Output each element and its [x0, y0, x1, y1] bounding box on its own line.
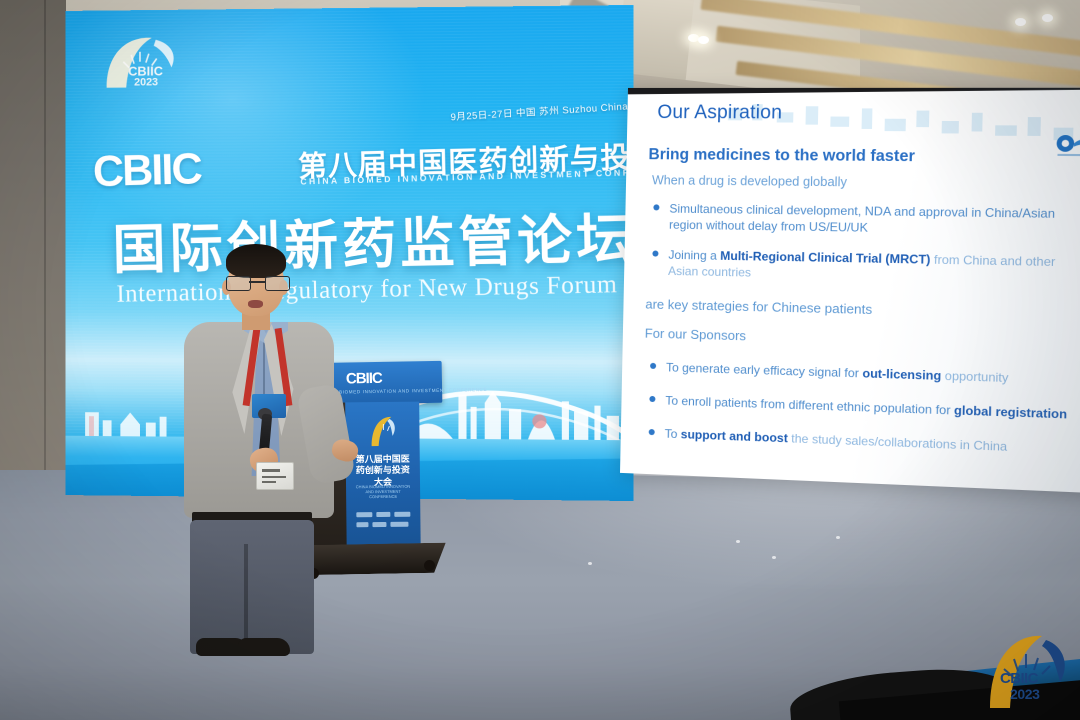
bullet-text-post: opportunity — [941, 368, 1009, 385]
ceiling-spotlight — [1042, 14, 1053, 22]
watermark-year: 2023 — [1010, 686, 1040, 702]
cbiic-wordmark: CBIIC — [92, 144, 201, 197]
floor-speck — [736, 540, 740, 543]
slide-mid-text: are key strategies for Chinese patients — [645, 296, 872, 317]
sponsor-logo-icon — [1051, 132, 1080, 160]
speaker-hair — [226, 244, 286, 278]
bullet-text-pre: To — [665, 427, 681, 442]
podium-caster — [424, 560, 435, 571]
speaker-mouth — [248, 300, 263, 308]
slide-subtitle: Bring medicines to the world faster — [648, 146, 915, 166]
speaker-shoe-right — [238, 638, 290, 656]
slide-bullet-2: Joining a Multi-Regional Clinical Trial … — [668, 247, 1080, 288]
ceiling-spotlight — [1015, 18, 1026, 26]
speaker-person — [176, 244, 376, 664]
cbiic-2023-logo-icon: CBIIC 2023 — [99, 32, 181, 94]
slide-bullet-1: Simultaneous clinical development, NDA a… — [669, 201, 1080, 240]
bullet-dot-icon — [650, 363, 656, 369]
bullet-text-pre: Joining a — [668, 248, 720, 263]
bullet-text: Simultaneous clinical development, NDA a… — [669, 202, 1055, 235]
bullet-text-bold: support and boost — [681, 427, 788, 445]
bullet-text-bold: global registration — [954, 403, 1067, 421]
svg-text:2023: 2023 — [134, 76, 158, 88]
speaker-trousers — [190, 520, 314, 654]
bullet-text-bold: out-licensing — [862, 366, 941, 383]
bullet-dot-icon — [653, 204, 659, 210]
slide-bullet-4: To enroll patients from different ethnic… — [665, 392, 1080, 423]
conference-photo-scene: CBIIC 2023 9月25日-27日 中国 苏州 Suzhou China … — [0, 0, 1080, 720]
bullet-text-pre: To generate early efficacy signal for — [666, 360, 863, 380]
trouser-seam — [244, 544, 248, 648]
speaker-torso — [184, 322, 334, 522]
screen-frame-top — [628, 88, 1080, 95]
wall-seam — [44, 0, 46, 505]
bullet-dot-icon — [649, 429, 655, 435]
slide-lead-in: When a drug is developed globally — [652, 173, 847, 189]
slide-sponsors-heading: For our Sponsors — [645, 326, 747, 344]
bullet-text-bold: Multi-Regional Clinical Trial (MRCT) — [720, 249, 931, 267]
bullet-dot-icon — [649, 396, 655, 402]
slide-bullet-3: To generate early efficacy signal for ou… — [666, 359, 1080, 389]
bullet-text-pre: To enroll patients from different ethnic… — [665, 393, 954, 417]
ceiling-spotlight — [698, 36, 709, 44]
bullet-text-post: the study sales/collaborations in China — [788, 431, 1008, 454]
floor-speck — [588, 562, 592, 565]
presentation-slide-screen: Our Aspiration Bring medicines to the wo… — [620, 88, 1080, 494]
cbiic-watermark: CBIIC 2023 — [980, 628, 1072, 714]
floor-speck — [836, 536, 840, 539]
floor-speck — [772, 556, 776, 559]
bullet-dot-icon — [652, 250, 658, 256]
name-badge — [256, 462, 294, 490]
watermark-text: CBIIC — [1000, 670, 1038, 687]
eyeglasses — [226, 276, 288, 290]
left-wall — [0, 0, 66, 520]
slide-title: Our Aspiration — [657, 102, 782, 125]
slide-bullet-5: To support and boost the study sales/col… — [665, 426, 1080, 459]
